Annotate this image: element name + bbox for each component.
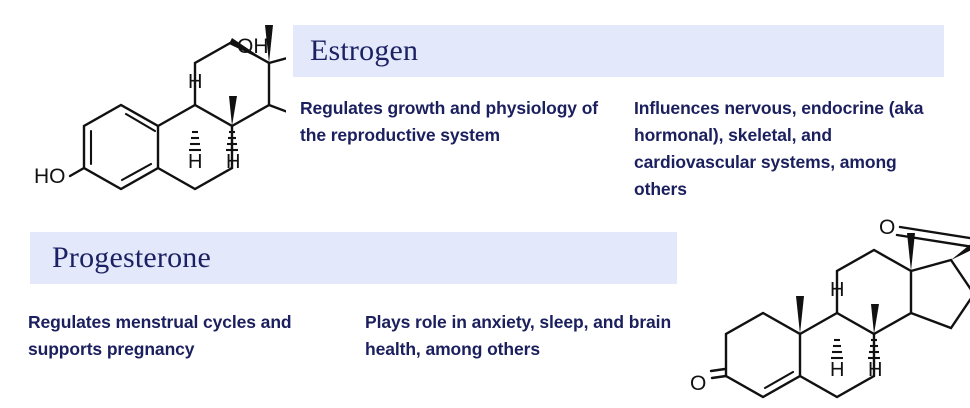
estradiol-h-c8-label: H: [188, 151, 202, 173]
progesterone-header-band: Progesterone: [30, 232, 677, 284]
progesterone-heading: Progesterone: [52, 241, 211, 275]
estradiol-hash-left: [189, 132, 201, 150]
estrogen-heading: Estrogen: [310, 34, 418, 68]
progesterone-fact-1: Regulates menstrual cycles and supports …: [28, 309, 348, 363]
progesterone-hash-left: [831, 340, 843, 358]
estrogen-header-band: Estrogen: [293, 25, 944, 77]
progesterone-o-acetyl-label: O: [879, 216, 895, 239]
estradiol-h-c14-label: H: [226, 151, 240, 173]
progesterone-o-ketone-label: O: [690, 372, 706, 395]
progesterone-fact-2: Plays role in anxiety, sleep, and brain …: [365, 309, 685, 363]
progesterone-h-wedge: [871, 304, 879, 334]
estradiol-ho-label: HO: [34, 165, 66, 188]
estrogen-fact-2: Influences nervous, endocrine (aka hormo…: [634, 95, 954, 203]
estradiol-h-wedge: [229, 96, 237, 126]
progesterone-h-c14-label: H: [868, 359, 882, 381]
progesterone-h-c9-label: H: [830, 279, 844, 301]
estradiol-structure: HO OH H H H: [18, 8, 286, 200]
progesterone-structure: O O H H: [684, 208, 970, 408]
estradiol-h-c9-label: H: [188, 71, 202, 93]
estradiol-svg: HO OH H H H: [18, 8, 286, 200]
progesterone-svg: O O H H: [684, 208, 970, 408]
progesterone-h-c8-label: H: [830, 359, 844, 381]
progesterone-c17-acetyl-wedge: [951, 238, 970, 260]
progesterone-c10-methyl-wedge: [796, 296, 804, 334]
infographic-canvas: HO OH H H H: [0, 0, 970, 408]
estrogen-fact-1: Regulates growth and physiology of the r…: [300, 95, 600, 149]
